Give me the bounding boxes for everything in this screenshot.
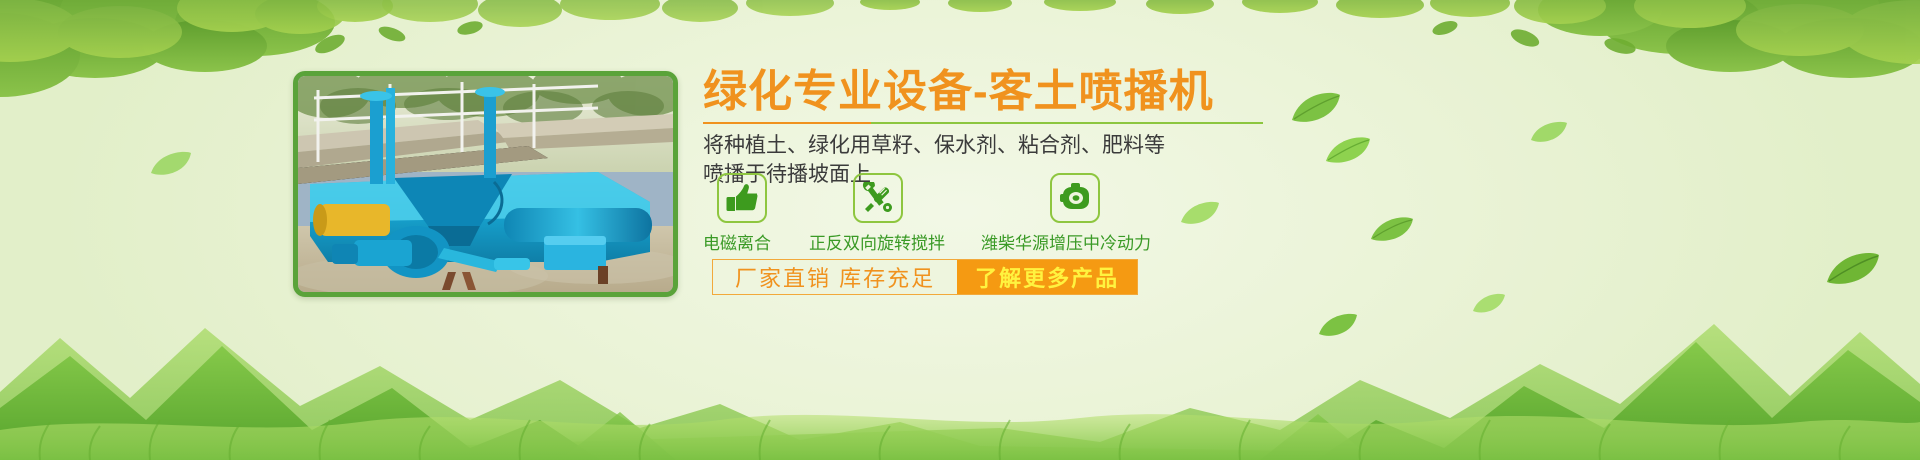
page-title: 绿化专业设备-客土喷播机 <box>703 66 1463 118</box>
engine-icon <box>1058 183 1092 213</box>
headline-block: 绿化专业设备-客土喷播机 将种植土、绿化用草籽、保水剂、粘合剂、肥料等 喷播于待… <box>703 66 1463 189</box>
floating-leaf-icon <box>1472 292 1506 319</box>
subtitle-line-1: 将种植土、绿化用草籽、保水剂、粘合剂、肥料等 <box>703 131 1463 160</box>
product-photo-image <box>298 76 673 292</box>
title-divider <box>703 122 1263 124</box>
thumbs-up-icon <box>726 183 758 213</box>
cta-bar: 厂家直销 库存充足 了解更多产品 <box>712 259 1138 295</box>
floating-leaf-icon <box>1318 312 1358 343</box>
feature-icon-box-1 <box>717 173 767 223</box>
floating-leaf-icon <box>1825 250 1881 291</box>
promo-banner: 绿化专业设备-客土喷播机 将种植土、绿化用草籽、保水剂、粘合剂、肥料等 喷播于待… <box>0 0 1920 460</box>
floating-leaf-icon <box>150 150 192 182</box>
feature-icon-box-3 <box>1050 173 1100 223</box>
feature-list: 电磁离合 正反双向旋转搅拌 潍柴华源增压中冷动力 <box>703 173 1463 255</box>
feature-label-3: 潍柴华源增压中冷动力 <box>981 229 1151 254</box>
wrench-screwdriver-icon <box>862 182 894 214</box>
floating-leaf-icon <box>1530 120 1568 149</box>
mountain-decoration <box>0 280 1920 460</box>
feature-icon-box-2 <box>853 173 903 223</box>
cta-slogan: 厂家直销 库存充足 <box>713 260 957 294</box>
feature-label-2: 正反双向旋转搅拌 <box>809 229 945 254</box>
product-photo <box>293 71 678 297</box>
feature-label-1: 电磁离合 <box>703 229 771 254</box>
learn-more-button[interactable]: 了解更多产品 <box>957 260 1137 294</box>
